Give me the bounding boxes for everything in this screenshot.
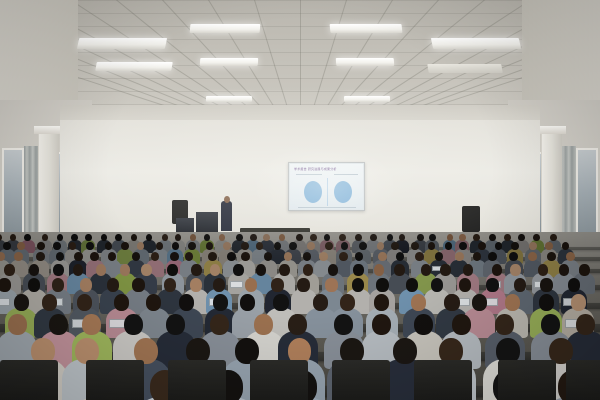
ceiling-light bbox=[336, 58, 395, 66]
audience-head bbox=[17, 242, 25, 250]
audience-head bbox=[245, 278, 257, 292]
audience-head bbox=[370, 234, 377, 241]
audience-head bbox=[352, 278, 364, 292]
audience-head bbox=[74, 252, 83, 261]
chair-back bbox=[0, 360, 58, 400]
audience-head bbox=[53, 242, 61, 250]
audience-head bbox=[374, 264, 384, 276]
audience-head bbox=[80, 278, 92, 292]
audience-head bbox=[256, 264, 266, 276]
audience-head bbox=[0, 278, 11, 292]
chair-back bbox=[86, 360, 144, 400]
audience-head bbox=[505, 294, 520, 311]
audience-head bbox=[146, 294, 161, 311]
audience-head bbox=[240, 294, 255, 311]
audience-head bbox=[213, 294, 228, 311]
audience-head bbox=[547, 252, 556, 261]
audience-head bbox=[297, 278, 309, 292]
chair-back bbox=[498, 360, 556, 400]
audience-head bbox=[429, 234, 436, 241]
audience-head bbox=[529, 242, 537, 250]
audience-head bbox=[540, 278, 552, 292]
audience-head bbox=[96, 264, 106, 276]
audience-head bbox=[208, 252, 217, 261]
audience-head bbox=[3, 242, 11, 250]
audience-head bbox=[359, 242, 367, 250]
audience-head bbox=[52, 278, 64, 292]
audience-head bbox=[488, 252, 497, 261]
audience-head bbox=[296, 234, 303, 241]
audience-head bbox=[288, 314, 307, 335]
audience-head bbox=[391, 242, 399, 250]
audience-head bbox=[489, 234, 496, 241]
audience-head bbox=[132, 278, 144, 292]
audience-head bbox=[566, 252, 575, 261]
audience-head bbox=[528, 252, 537, 261]
audience bbox=[0, 228, 600, 400]
audience-head bbox=[579, 264, 589, 276]
audience-head bbox=[444, 294, 459, 311]
audience-head bbox=[514, 278, 526, 292]
audience-head bbox=[310, 234, 317, 241]
audience-head bbox=[417, 234, 424, 241]
audience-head bbox=[29, 264, 39, 276]
audience-head bbox=[463, 264, 473, 276]
ceiling-light bbox=[344, 96, 390, 102]
audience-head bbox=[340, 294, 355, 311]
audience-head bbox=[376, 278, 388, 292]
ceiling-light bbox=[190, 24, 261, 33]
audience-head bbox=[210, 264, 220, 276]
ceiling-light bbox=[431, 38, 521, 49]
audience-head bbox=[166, 314, 185, 335]
audience-head bbox=[319, 252, 328, 261]
chair-back bbox=[414, 360, 472, 400]
audience-head bbox=[82, 314, 101, 335]
chair-back bbox=[332, 360, 390, 400]
audience-head bbox=[328, 264, 338, 276]
audience-head bbox=[492, 264, 502, 276]
audience-head bbox=[334, 314, 353, 335]
audience-head bbox=[372, 314, 391, 335]
audience-head bbox=[223, 242, 231, 250]
audience-head bbox=[339, 252, 348, 261]
chair-back bbox=[168, 360, 226, 400]
audience-head bbox=[576, 314, 595, 335]
audience-head bbox=[236, 234, 243, 241]
audience-head bbox=[250, 234, 257, 241]
audience-head bbox=[539, 294, 554, 311]
presenter-head bbox=[224, 196, 230, 203]
ceiling-light bbox=[95, 62, 173, 71]
audience-head bbox=[571, 294, 586, 311]
audience-head bbox=[414, 314, 433, 335]
audience-head bbox=[440, 264, 450, 276]
audience-head bbox=[411, 294, 426, 311]
audience-head bbox=[313, 294, 328, 311]
audience-head bbox=[141, 264, 151, 276]
audience-head bbox=[459, 278, 471, 292]
chair-back bbox=[566, 360, 600, 400]
audience-head bbox=[279, 264, 289, 276]
ceiling-light bbox=[206, 96, 252, 102]
audience-head bbox=[241, 242, 249, 250]
audience-head bbox=[325, 278, 337, 292]
ceiling-light bbox=[330, 24, 403, 33]
audience-head bbox=[120, 264, 130, 276]
audience-head bbox=[378, 252, 387, 261]
audience-head bbox=[486, 278, 498, 292]
chair-back bbox=[250, 360, 308, 400]
audience-head bbox=[28, 278, 40, 292]
audience-head bbox=[86, 242, 94, 250]
audience-head bbox=[85, 234, 92, 241]
audience-head bbox=[455, 252, 464, 261]
audience-head bbox=[233, 264, 243, 276]
audience-head bbox=[191, 264, 201, 276]
audience-head bbox=[394, 264, 404, 276]
audience-head bbox=[49, 314, 68, 335]
audience-head bbox=[538, 264, 548, 276]
audience-head bbox=[273, 294, 288, 311]
ceiling-light bbox=[200, 58, 259, 66]
projector-haze bbox=[250, 150, 400, 230]
ceiling-light bbox=[77, 38, 167, 49]
audience-head bbox=[14, 294, 29, 311]
photo-scene: 学术报告 研究进展与成果分析 Wide photograph of a pack… bbox=[0, 0, 600, 400]
ceiling-light bbox=[427, 64, 503, 73]
audience-head bbox=[4, 264, 14, 276]
audience-head bbox=[472, 294, 487, 311]
audience-head bbox=[179, 294, 194, 311]
audience-head bbox=[510, 264, 520, 276]
audience-head bbox=[53, 264, 63, 276]
audience-head bbox=[213, 278, 225, 292]
audience-head bbox=[8, 314, 27, 335]
audience-head bbox=[452, 314, 471, 335]
audience-head bbox=[431, 278, 443, 292]
audience-head bbox=[459, 234, 466, 241]
audience-head bbox=[42, 294, 57, 311]
audience-head bbox=[114, 294, 129, 311]
audience-head bbox=[353, 264, 363, 276]
audience-head bbox=[77, 294, 92, 311]
audience-head bbox=[124, 314, 143, 335]
audience-head bbox=[73, 264, 83, 276]
presenter-body bbox=[221, 201, 232, 231]
audience-head bbox=[406, 278, 418, 292]
audience-head bbox=[289, 242, 297, 250]
audience-head bbox=[164, 278, 176, 292]
audience-head bbox=[167, 264, 177, 276]
audience-head bbox=[303, 264, 313, 276]
audience-head bbox=[307, 242, 315, 250]
audience-head bbox=[107, 278, 119, 292]
audience-head bbox=[190, 278, 202, 292]
audience-head bbox=[374, 294, 389, 311]
audience-head bbox=[559, 264, 569, 276]
pillar-capital bbox=[34, 126, 62, 134]
audience-head bbox=[254, 314, 273, 335]
audience-head bbox=[121, 242, 129, 250]
audience-head bbox=[210, 314, 229, 335]
audience-head bbox=[421, 264, 431, 276]
audience-head bbox=[271, 278, 283, 292]
audience-head bbox=[495, 314, 514, 335]
audience-head bbox=[36, 252, 45, 261]
audience-head bbox=[541, 314, 560, 335]
pillar-capital bbox=[538, 126, 566, 134]
audience-head bbox=[568, 278, 580, 292]
